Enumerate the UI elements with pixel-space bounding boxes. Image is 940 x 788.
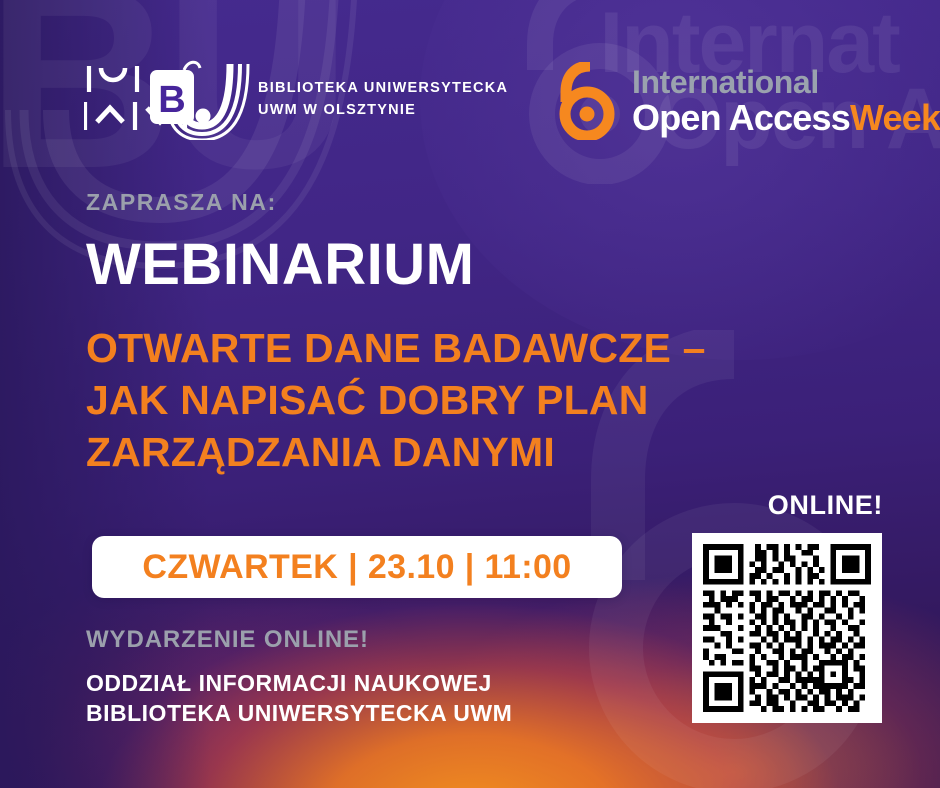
library-name-line1: BIBLIOTEKA UNIWERSYTECKA xyxy=(258,77,508,99)
library-name: BIBLIOTEKA UNIWERSYTECKA UWM W OLSZTYNIE xyxy=(258,77,508,122)
oaw-open-access-text: Open Access xyxy=(632,97,850,138)
open-access-week-wordmark: International Open AccessWeek xyxy=(632,66,940,136)
online-badge: ONLINE! xyxy=(768,490,883,521)
event-date-banner: CZWARTEK | 23.10 | 11:00 xyxy=(92,536,622,598)
open-access-week-logo: International Open AccessWeek xyxy=(556,62,940,140)
library-logo: B BIBLIOTEKA UNIWERSYTECKA UWM W OLSZTYN… xyxy=(84,58,508,140)
event-registration-qr-code[interactable] xyxy=(692,533,882,723)
organizer-line: ODDZIAŁ INFORMACJI NAUKOWEJ xyxy=(86,669,512,698)
invite-kicker: ZAPRASZA NA: xyxy=(86,189,277,216)
webinar-subject-line: OTWARTE DANE BADAWCZE – xyxy=(86,322,706,374)
event-date-text: CZWARTEK | 23.10 | 11:00 xyxy=(142,548,571,587)
oaw-week-text: Week xyxy=(850,97,940,138)
oaw-line-international: International xyxy=(632,66,940,98)
page-title: WEBINARIUM xyxy=(86,236,474,294)
event-online-note: WYDARZENIE ONLINE! xyxy=(86,626,369,654)
open-access-lock-icon xyxy=(556,62,618,140)
oaw-line-open-access-week: Open AccessWeek xyxy=(632,100,940,136)
library-name-line2: UWM W OLSZTYNIE xyxy=(258,99,508,121)
webinar-poster: BU Internat Open A xyxy=(0,0,940,788)
webinar-subject-line: JAK NAPISAĆ DOBRY PLAN xyxy=(86,374,706,426)
uwm-library-bu-mark-icon: B xyxy=(84,58,252,140)
webinar-subject: OTWARTE DANE BADAWCZE – JAK NAPISAĆ DOBR… xyxy=(86,322,706,478)
organizer-line: BIBLIOTEKA UNIWERSYTECKA UWM xyxy=(86,699,512,728)
poster-header: B BIBLIOTEKA UNIWERSYTECKA UWM W OLSZTYN… xyxy=(0,0,940,175)
organizer-block: ODDZIAŁ INFORMACJI NAUKOWEJ BIBLIOTEKA U… xyxy=(86,669,512,728)
webinar-subject-line: ZARZĄDZANIA DANYMI xyxy=(86,426,706,478)
qr-code-image xyxy=(703,544,871,712)
